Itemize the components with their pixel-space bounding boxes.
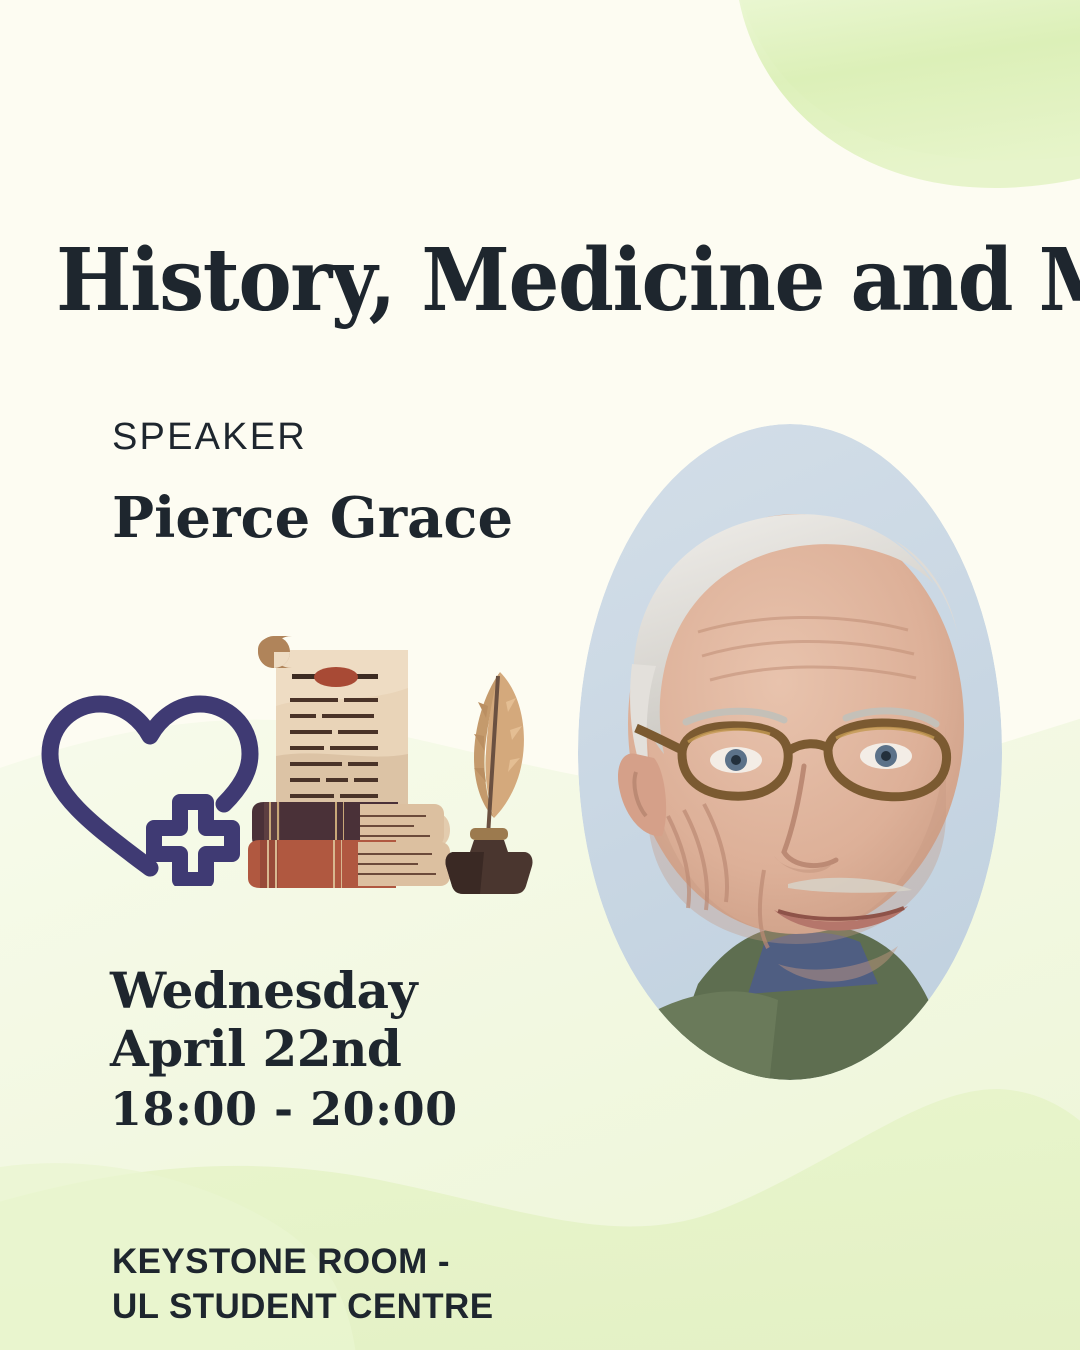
blob-top-right-2: [735, 0, 1080, 188]
history-illustration: [248, 636, 548, 898]
event-datetime: Wednesday April 22nd 18:00 - 20:00: [110, 962, 458, 1137]
event-venue: KEYSTONE ROOM - UL STUDENT CENTRE: [112, 1240, 493, 1330]
stacked-books-icon: [248, 802, 450, 888]
blob-top-right: [730, 0, 1080, 160]
speaker-label: SPEAKER: [112, 418, 513, 456]
venue-line-2: UL STUDENT CENTRE: [112, 1285, 493, 1330]
venue-line-1: KEYSTONE ROOM -: [112, 1240, 493, 1285]
speaker-block: SPEAKER Pierce Grace: [112, 418, 513, 546]
heart-medical-icon: [34, 686, 266, 886]
speaker-portrait-photo: [578, 424, 1002, 1080]
event-poster: History, Medicine and Me SPEAKER Pierce …: [0, 0, 1080, 1350]
event-day: Wednesday: [110, 962, 458, 1020]
event-time: 18:00 - 20:00: [110, 1082, 458, 1137]
page-title: History, Medicine and Me: [56, 236, 967, 326]
speaker-name: Pierce Grace: [112, 490, 513, 546]
event-date: April 22nd: [110, 1020, 458, 1078]
quill-inkwell-icon: [445, 672, 532, 894]
